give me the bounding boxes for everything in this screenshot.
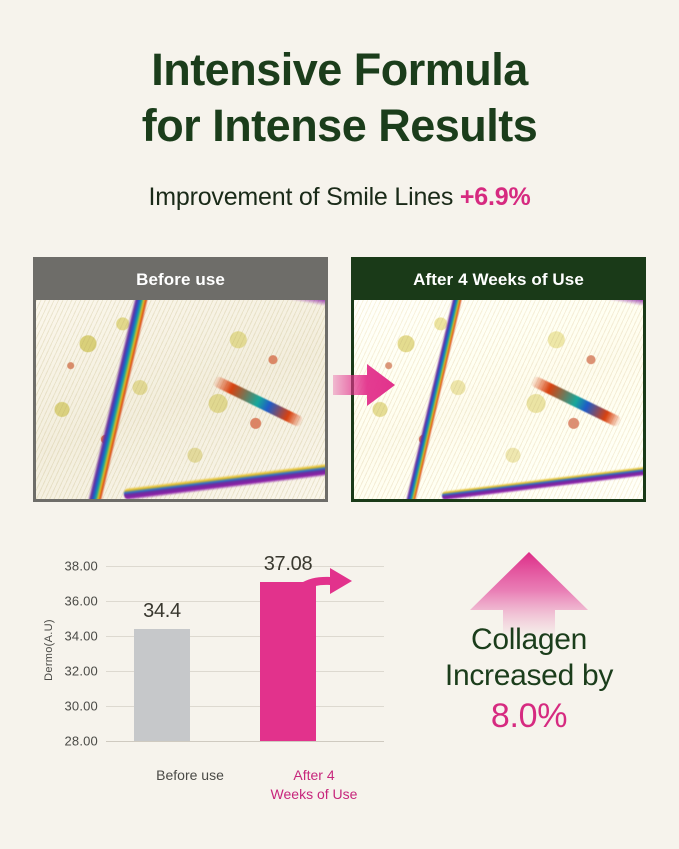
bar-before: 34.4 [134,629,190,741]
right-arrow-icon [333,362,395,408]
bar-value-before: 34.4 [143,600,181,623]
subheadline-text: Improvement of Smile Lines [149,183,460,211]
before-caption: Before use [36,260,325,300]
before-skin-image [36,300,325,499]
bar-chart: Dermo(A.U) 38.00 36.00 34.00 32.00 30.00… [34,548,394,798]
y-axis-title: Dermo(A.U) [43,619,55,681]
x-label-after-line1: After 4 [293,767,334,783]
headline-line-2: for Intense Results [0,98,679,154]
subheadline: Improvement of Smile Lines +6.9% [0,183,679,212]
y-tick-label: 28.00 [64,734,98,749]
collagen-text: Collagen Increased by 8.0% [398,622,660,737]
after-skin-image [354,300,643,499]
collagen-callout: Collagen Increased by 8.0% [398,552,660,737]
x-label-after: After 4 Weeks of Use [254,766,374,804]
subheadline-percent: +6.9% [460,183,531,211]
before-panel: Before use [33,257,328,502]
collagen-line-1: Collagen [398,622,660,658]
after-caption: After 4 Weeks of Use [354,260,643,300]
x-label-after-line2: Weeks of Use [271,786,358,802]
after-panel: After 4 Weeks of Use [351,257,646,502]
page-title: Intensive Formula for Intense Results [0,0,679,155]
y-tick-label: 32.00 [64,664,98,679]
collagen-line-2: Increased by [398,658,660,694]
y-tick-label: 36.00 [64,594,98,609]
y-tick-label: 30.00 [64,699,98,714]
headline-line-1: Intensive Formula [151,44,528,95]
chart-plot-area: 38.00 36.00 34.00 32.00 30.00 28.00 34.4… [106,566,384,741]
gridline [106,566,384,567]
comparison-section: Before use After 4 Weeks of Use [33,257,646,502]
x-label-before-line1: Before use [156,767,224,783]
axis-baseline [106,741,384,742]
y-tick-label: 34.00 [64,629,98,644]
y-tick-label: 38.00 [64,559,98,574]
x-label-before: Before use [130,766,250,785]
curved-arrow-icon [282,568,354,612]
collagen-percent: 8.0% [398,696,660,737]
